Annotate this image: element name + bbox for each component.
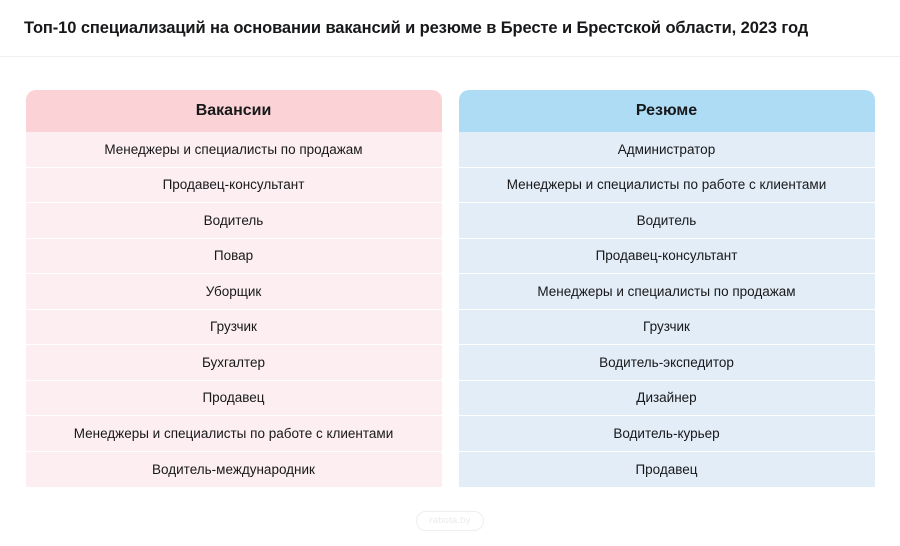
page-title: Топ-10 специализаций на основании ваканс… bbox=[24, 19, 808, 38]
infographic-page: Топ-10 специализаций на основании ваканс… bbox=[0, 0, 900, 546]
list-item: Водитель-международник bbox=[26, 452, 442, 488]
list-item: Грузчик bbox=[459, 310, 875, 346]
list-item: Водитель bbox=[26, 203, 442, 239]
list-item: Менеджеры и специалисты по продажам bbox=[459, 274, 875, 310]
list-item: Продавец bbox=[26, 381, 442, 417]
footer: rabota.by bbox=[0, 502, 900, 546]
list-item: Грузчик bbox=[26, 310, 442, 346]
resumes-list: Администратор Менеджеры и специалисты по… bbox=[459, 132, 875, 487]
list-item: Менеджеры и специалисты по продажам bbox=[26, 132, 442, 168]
list-item: Водитель-экспедитор bbox=[459, 345, 875, 381]
list-item: Дизайнер bbox=[459, 381, 875, 417]
list-item: Продавец-консультант bbox=[26, 168, 442, 204]
resumes-card: Резюме Администратор Менеджеры и специал… bbox=[459, 90, 875, 502]
list-item: Повар bbox=[26, 239, 442, 275]
list-item: Уборщик bbox=[26, 274, 442, 310]
resumes-column-header: Резюме bbox=[459, 90, 875, 132]
ranking-columns: Вакансии Менеджеры и специалисты по прод… bbox=[0, 57, 900, 502]
list-item: Водитель-курьер bbox=[459, 416, 875, 452]
vacancies-list: Менеджеры и специалисты по продажам Прод… bbox=[26, 132, 442, 487]
vacancies-column-header: Вакансии bbox=[26, 90, 442, 132]
vacancies-card: Вакансии Менеджеры и специалисты по прод… bbox=[26, 90, 442, 502]
watermark-badge: rabota.by bbox=[416, 511, 483, 531]
list-item: Менеджеры и специалисты по работе с клие… bbox=[459, 168, 875, 204]
list-item: Менеджеры и специалисты по работе с клие… bbox=[26, 416, 442, 452]
list-item: Водитель bbox=[459, 203, 875, 239]
list-item: Продавец bbox=[459, 452, 875, 488]
page-title-bar: Топ-10 специализаций на основании ваканс… bbox=[0, 0, 900, 57]
list-item: Администратор bbox=[459, 132, 875, 168]
list-item: Бухгалтер bbox=[26, 345, 442, 381]
list-item: Продавец-консультант bbox=[459, 239, 875, 275]
